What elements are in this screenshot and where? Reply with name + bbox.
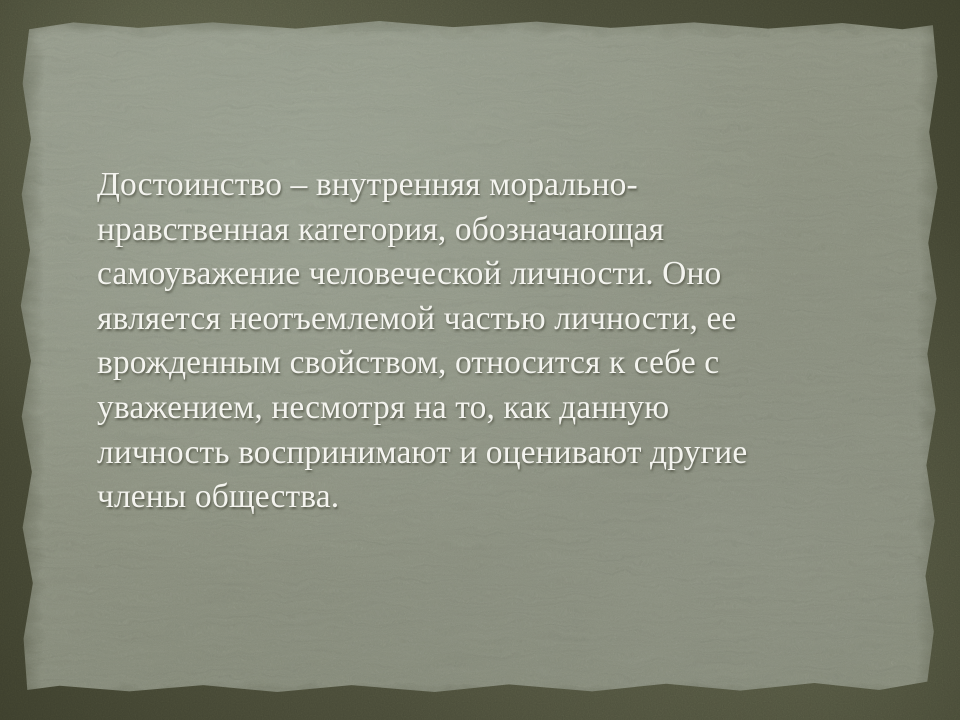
body-text-line: самоуважение человеческой личности. Оно	[97, 252, 887, 297]
body-text-line: уважением, несмотря на то, как данную	[97, 386, 887, 431]
body-text-line: Достоинство – внутренняя морально-	[97, 163, 887, 208]
presentation-slide: Достоинство – внутренняя морально- нравс…	[0, 0, 960, 720]
slide-body-text: Достоинство – внутренняя морально- нравс…	[97, 163, 887, 520]
body-text-line: члены общества.	[97, 475, 887, 520]
body-text-line: нравственная категория, обозначающая	[97, 208, 887, 253]
body-text-line: врожденным свойством, относится к себе с	[97, 341, 887, 386]
body-text-line: личность воспринимают и оценивают другие	[97, 431, 887, 476]
body-text-line: является неотъемлемой частью личности, е…	[97, 297, 887, 342]
